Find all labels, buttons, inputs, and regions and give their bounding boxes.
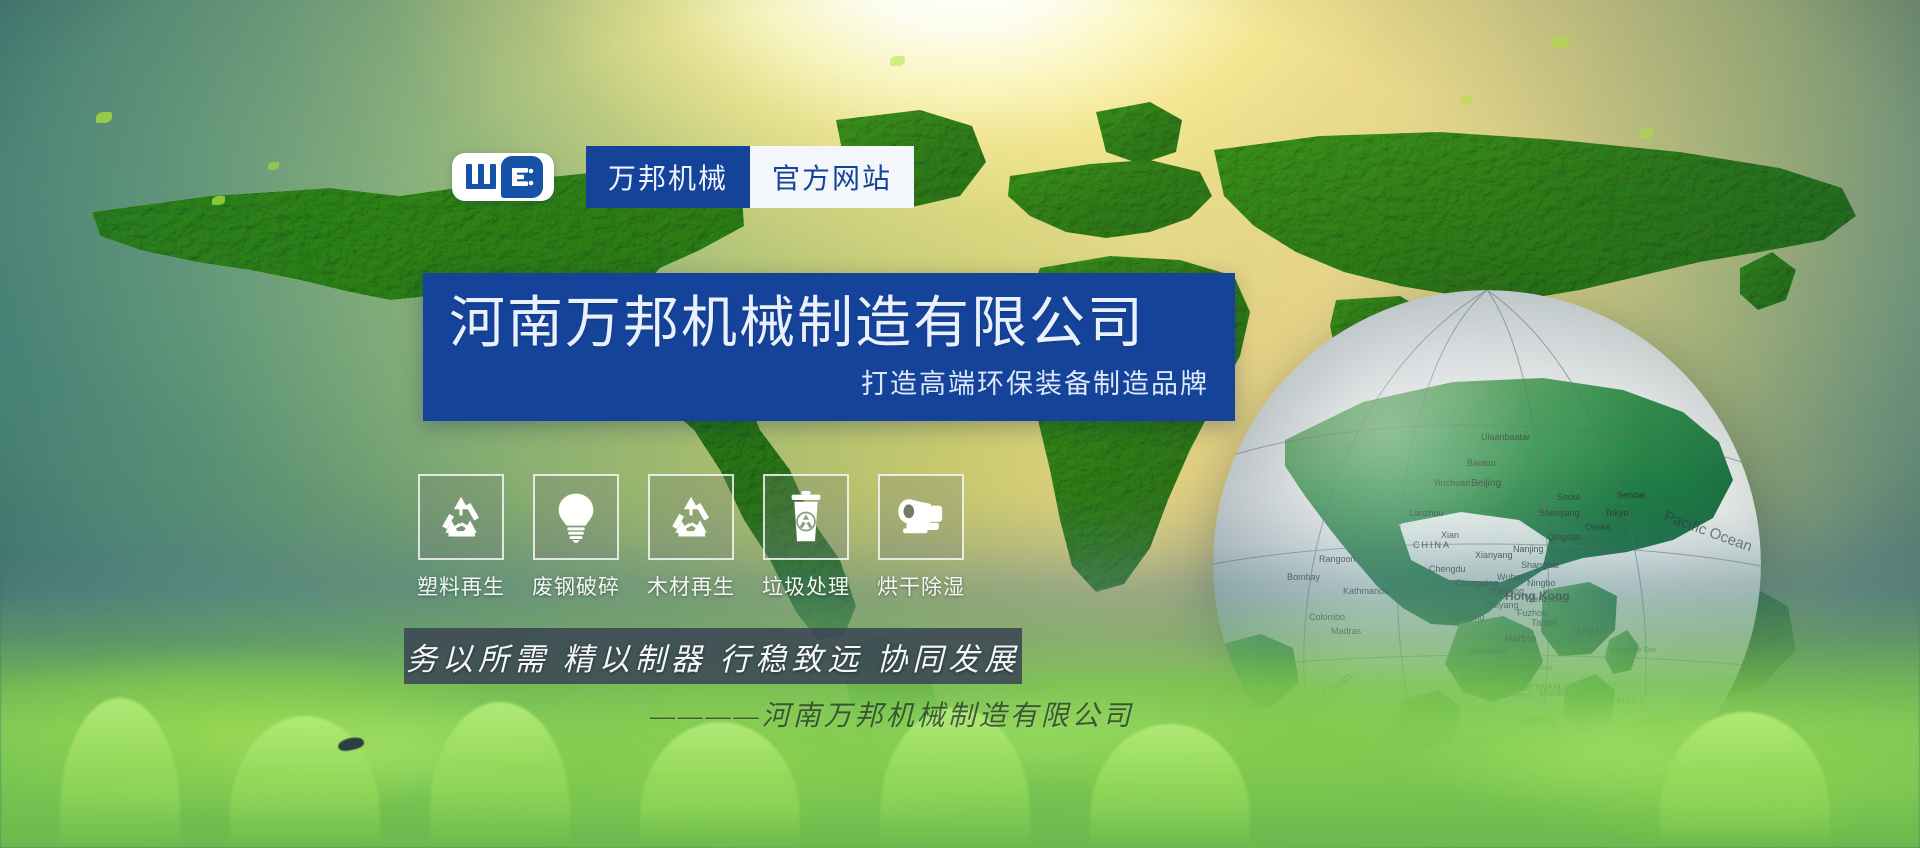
feature-label: 烘干除湿 (877, 571, 965, 601)
site-logo-bar[interactable]: 万邦机械 官方网站 (452, 146, 914, 208)
feature-label: 塑料再生 (417, 571, 505, 601)
feature-icon-box[interactable] (648, 474, 734, 560)
logo-b-mark (501, 156, 543, 198)
feature-item-waste-treatment[interactable]: 垃圾处理 (765, 474, 847, 601)
leaf-fleck (268, 162, 279, 170)
feature-icon-box[interactable] (533, 474, 619, 560)
leaf-fleck (212, 196, 225, 205)
logo-w-mark (464, 162, 498, 192)
leaf-fleck (1552, 36, 1570, 48)
hero-banner: CHINA TAIWAN VIETNAM PHILIPPINES INDONES… (0, 0, 1920, 848)
leaf-fleck (1460, 96, 1472, 104)
feature-item-plastic-recycling[interactable]: 塑料再生 (420, 474, 502, 601)
recycle-icon (666, 492, 716, 542)
trash-bin-icon (786, 491, 826, 543)
recycle-icon (436, 492, 486, 542)
feature-item-scrap-steel-crushing[interactable]: 废钢破碎 (535, 474, 617, 601)
feature-item-drying-dehumidifying[interactable]: 烘干除湿 (880, 474, 962, 601)
lightbulb-icon (554, 491, 598, 543)
feature-icon-box[interactable] (418, 474, 504, 560)
feature-icon-box[interactable] (878, 474, 964, 560)
hero-tagline: 打造高端环保装备制造品牌 (423, 362, 1235, 401)
slogan-banner: 务以所需 精以制器 行稳致远 协同发展 (404, 628, 1022, 684)
logo-badge[interactable] (452, 153, 554, 201)
feature-icon-row: 塑料再生 废钢破碎 (420, 474, 962, 601)
brand-tab-company[interactable]: 万邦机械 (586, 146, 750, 208)
leaf-fleck (1640, 128, 1654, 138)
brand-tab-official-site[interactable]: 官方网站 (750, 146, 914, 208)
slogan-text: 务以所需 精以制器 行稳致远 协同发展 (406, 634, 1020, 679)
brand-tabs[interactable]: 万邦机械 官方网站 (586, 146, 914, 208)
feature-label: 废钢破碎 (532, 571, 620, 601)
page-title: 河南万邦机械制造有限公司 (423, 293, 1235, 352)
feature-item-wood-recycling[interactable]: 木材再生 (650, 474, 732, 601)
leaf-fleck (890, 56, 905, 66)
dryer-blower-icon (895, 497, 947, 537)
hero-title-block: 河南万邦机械制造有限公司 打造高端环保装备制造品牌 (423, 273, 1235, 421)
slogan-signature: ————河南万邦机械制造有限公司 (650, 694, 1190, 734)
feature-label: 木材再生 (647, 571, 735, 601)
leaf-fleck (96, 112, 112, 123)
feature-label: 垃圾处理 (762, 571, 850, 601)
feature-icon-box[interactable] (763, 474, 849, 560)
